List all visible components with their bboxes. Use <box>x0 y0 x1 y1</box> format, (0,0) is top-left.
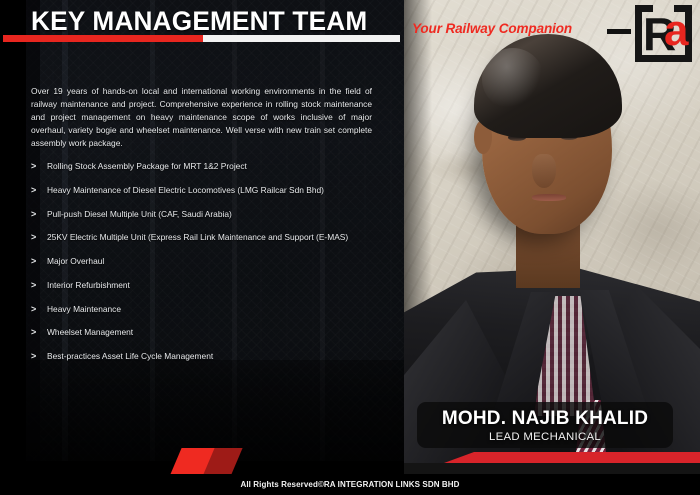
bullet-marker-icon: > <box>31 350 47 363</box>
list-item: > Pull-push Diesel Multiple Unit (CAF, S… <box>31 208 383 221</box>
list-item: > Major Overhaul <box>31 255 383 268</box>
list-item: > Interior Refurbishment <box>31 279 383 292</box>
tagline-dash-icon <box>607 29 631 34</box>
list-item-label: Pull-push Diesel Multiple Unit (CAF, Sau… <box>47 208 232 221</box>
list-item-label: 25KV Electric Multiple Unit (Express Rai… <box>47 231 348 244</box>
footer-rights-text: All Rights Reserved <box>240 480 317 489</box>
bullet-marker-icon: > <box>31 160 47 173</box>
list-item-label: Heavy Maintenance <box>47 303 121 316</box>
brand-tagline: Your Railway Companion <box>412 21 572 36</box>
bullet-marker-icon: > <box>31 255 47 268</box>
bullet-marker-icon: > <box>31 231 47 244</box>
person-role: LEAD MECHANICAL <box>489 431 601 443</box>
person-name: MOHD. NAJIB KHALID <box>442 408 648 430</box>
list-item: > 25KV Electric Multiple Unit (Express R… <box>31 231 383 244</box>
black-band <box>404 463 700 474</box>
slide-canvas: KEY MANAGEMENT TEAM Over 19 years of han… <box>0 0 700 495</box>
footer-bar: All Rights Reserved © RA INTEGRATION LIN… <box>0 474 700 495</box>
list-item-label: Interior Refurbishment <box>47 279 130 292</box>
left-content-panel: KEY MANAGEMENT TEAM Over 19 years of han… <box>0 0 404 495</box>
intro-paragraph: Over 19 years of hands-on local and inte… <box>31 85 372 150</box>
left-black-edge <box>0 0 26 495</box>
bullet-marker-icon: > <box>31 184 47 197</box>
bullet-marker-icon: > <box>31 303 47 316</box>
title-underline <box>3 35 400 42</box>
footer-company-name: RA INTEGRATION LINKS SDN BHD <box>324 480 460 489</box>
list-item-label: Major Overhaul <box>47 255 104 268</box>
list-item-label: Best-practices Asset Life Cycle Manageme… <box>47 350 213 363</box>
experience-bullet-list: > Rolling Stock Assembly Package for MRT… <box>31 160 383 374</box>
title-underline-white <box>203 35 400 42</box>
bullet-marker-icon: > <box>31 279 47 292</box>
list-item: > Rolling Stock Assembly Package for MRT… <box>31 160 383 173</box>
list-item-label: Wheelset Management <box>47 326 133 339</box>
list-item-label: Rolling Stock Assembly Package for MRT 1… <box>47 160 247 173</box>
red-accent-band <box>444 452 700 463</box>
portrait-panel: Your Railway Companion R a MOHD. NAJIB K… <box>404 0 700 495</box>
list-item: > Wheelset Management <box>31 326 383 339</box>
logo-letter-a: a <box>664 9 688 53</box>
bullet-marker-icon: > <box>31 208 47 221</box>
list-item: > Heavy Maintenance of Diesel Electric L… <box>31 184 383 197</box>
ra-logo-icon: R a <box>635 5 692 62</box>
title-underline-red <box>3 35 203 42</box>
bullet-marker-icon: > <box>31 326 47 339</box>
name-plate: MOHD. NAJIB KHALID LEAD MECHANICAL <box>417 402 673 448</box>
list-item: > Heavy Maintenance <box>31 303 383 316</box>
page-title: KEY MANAGEMENT TEAM <box>31 6 367 37</box>
list-item: > Best-practices Asset Life Cycle Manage… <box>31 350 383 363</box>
list-item-label: Heavy Maintenance of Diesel Electric Loc… <box>47 184 324 197</box>
portrait-mouth <box>532 194 566 201</box>
portrait-nose <box>532 154 556 188</box>
